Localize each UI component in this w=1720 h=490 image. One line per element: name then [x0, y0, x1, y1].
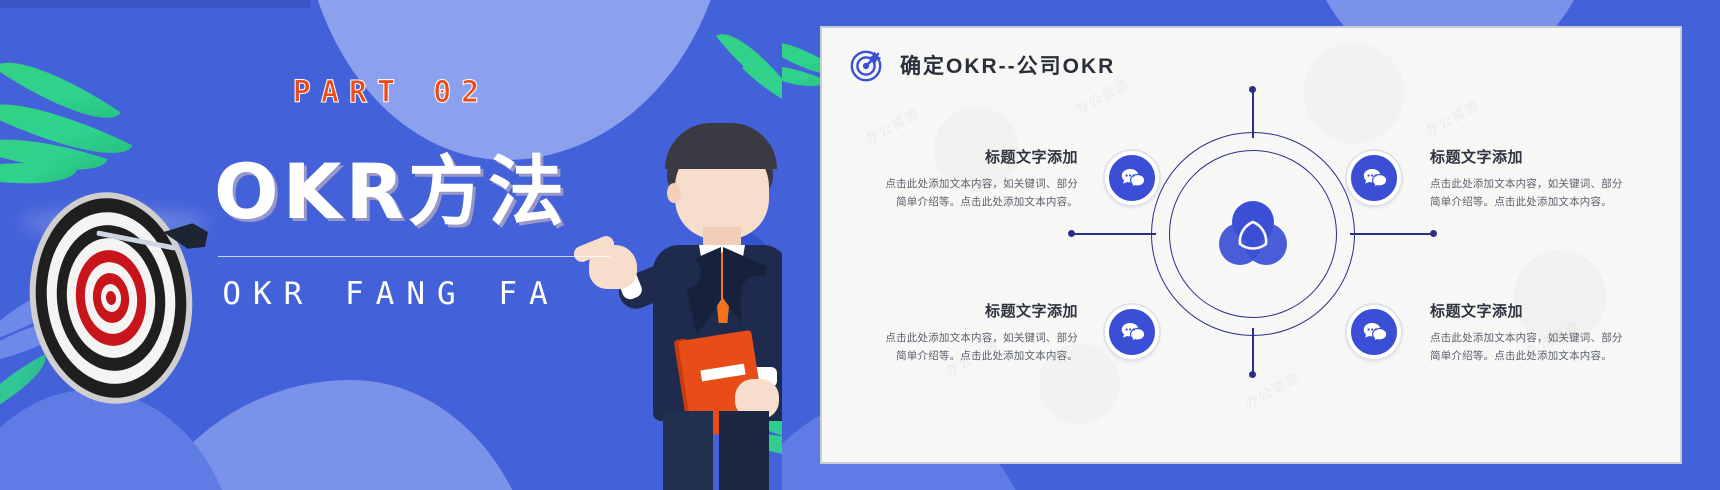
- page-subtitle: OKR FANG FA: [0, 276, 782, 312]
- chat-bubble-icon: [1119, 165, 1145, 191]
- quadrant-body: 点击此处添加文本内容，如关键词、部分简单介绍等。点击此处添加文本内容。: [1430, 329, 1630, 366]
- connector-line-top: [1252, 90, 1254, 138]
- watermark: 办公资源: [1421, 95, 1483, 140]
- connector-dot-bottom: [1249, 371, 1256, 378]
- card-title: 确定OKR--公司OKR: [900, 50, 1115, 80]
- watermark: 办公资源: [861, 103, 923, 148]
- content-card: 办公资源 办公资源 办公资源 办公资源 办公资源 办公资源 确定OKR--公司O…: [820, 26, 1682, 464]
- connector-dot-top: [1249, 86, 1256, 93]
- slide-right-content: 办公资源 办公资源 办公资源 办公资源 办公资源 办公资源 确定OKR--公司O…: [782, 0, 1720, 490]
- quadrant-title: 标题文字添加: [1430, 146, 1630, 167]
- quadrant-body: 点击此处添加文本内容，如关键词、部分简单介绍等。点击此处添加文本内容。: [878, 175, 1078, 212]
- chat-bubble-icon: [1119, 319, 1145, 345]
- venn-diagram-icon: [1213, 194, 1293, 274]
- part-label: PART 02: [0, 75, 782, 110]
- chat-bubble-icon-bottom-left[interactable]: [1105, 305, 1159, 359]
- center-diagram: [1151, 132, 1355, 336]
- page-title: OKR方法: [0, 130, 782, 240]
- decorative-top-strip: [0, 0, 310, 8]
- quadrant-top-left[interactable]: 标题文字添加 点击此处添加文本内容，如关键词、部分简单介绍等。点击此处添加文本内…: [878, 146, 1078, 212]
- quadrant-title: 标题文字添加: [1430, 300, 1630, 321]
- quadrant-top-right[interactable]: 标题文字添加 点击此处添加文本内容，如关键词、部分简单介绍等。点击此处添加文本内…: [1430, 146, 1630, 212]
- quadrant-bottom-right[interactable]: 标题文字添加 点击此处添加文本内容，如关键词、部分简单介绍等。点击此处添加文本内…: [1430, 300, 1630, 366]
- quadrant-body: 点击此处添加文本内容，如关键词、部分简单介绍等。点击此处添加文本内容。: [878, 329, 1078, 366]
- quadrant-body: 点击此处添加文本内容，如关键词、部分简单介绍等。点击此处添加文本内容。: [1430, 175, 1630, 212]
- slide-left-title: PART 02 OKR方法 OKR FANG FA: [0, 0, 782, 490]
- quadrant-title: 标题文字添加: [878, 146, 1078, 167]
- connector-dot-right: [1430, 230, 1437, 237]
- connector-line-right: [1350, 233, 1434, 235]
- quadrant-title: 标题文字添加: [878, 300, 1078, 321]
- connector-line-left: [1072, 233, 1156, 235]
- chat-bubble-icon-top-left[interactable]: [1105, 151, 1159, 205]
- quadrant-bottom-left[interactable]: 标题文字添加 点击此处添加文本内容，如关键词、部分简单介绍等。点击此处添加文本内…: [878, 300, 1078, 366]
- presentation-slides: PART 02 OKR方法 OKR FANG FA 办公资源 办公资源 办公资源…: [0, 0, 1720, 490]
- target-icon: [850, 48, 884, 82]
- chat-bubble-icon: [1361, 319, 1387, 345]
- chat-bubble-icon: [1361, 165, 1387, 191]
- chat-bubble-icon-top-right[interactable]: [1347, 151, 1401, 205]
- chat-bubble-icon-bottom-right[interactable]: [1347, 305, 1401, 359]
- card-header: 确定OKR--公司OKR: [822, 28, 1115, 82]
- connector-dot-left: [1068, 230, 1075, 237]
- title-divider: [218, 256, 610, 257]
